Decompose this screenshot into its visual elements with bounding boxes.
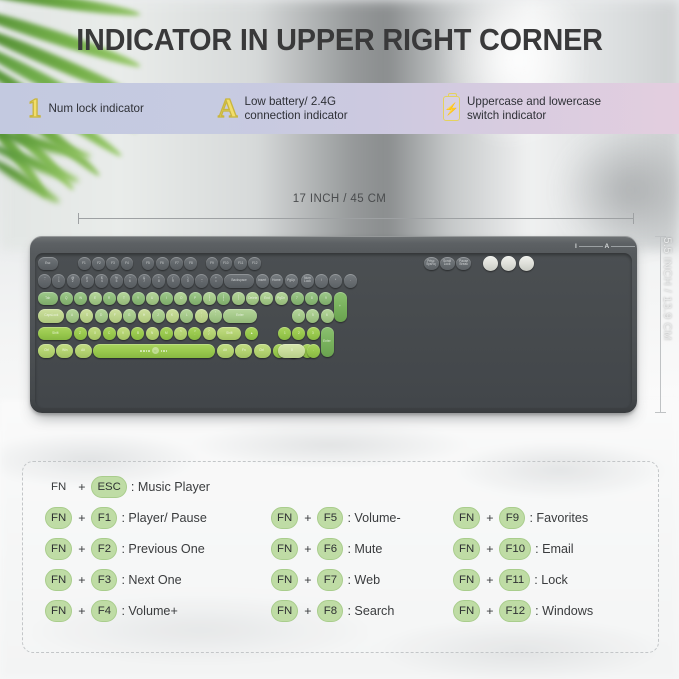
infographic-canvas: INDICATOR IN UPPER RIGHT CORNER 1 Num lo… xyxy=(0,0,679,679)
key-F8: F8 xyxy=(184,257,197,270)
shortcut-row: FN+F2: Previous One xyxy=(45,533,210,564)
key-label: U xyxy=(151,297,153,300)
key-label: S xyxy=(86,314,88,317)
key-label: Tab xyxy=(45,297,50,300)
key-D: D xyxy=(95,309,108,323)
key-J: J xyxy=(152,309,165,323)
key-label: } ] xyxy=(223,295,224,302)
shortcut-function-key: F4 xyxy=(91,600,117,622)
key-pad-9: 9 xyxy=(319,292,332,306)
shortcut-action-label: : Search xyxy=(347,604,394,618)
shortcut-modifier-key: FN xyxy=(453,569,480,591)
key-label: Shift xyxy=(52,332,58,335)
shortcut-legend-panel: FN+ESC: Music PlayerFN+F1: Player/ Pause… xyxy=(22,461,659,653)
width-dimension-line xyxy=(78,218,634,219)
key-label: F6 xyxy=(160,262,164,265)
key-label: ? / xyxy=(208,330,210,337)
shortcut-row: FN+F4: Volume+ xyxy=(45,595,210,626)
key-label: / xyxy=(321,279,322,282)
key-U: U xyxy=(146,292,159,306)
shortcut-function-key: F11 xyxy=(499,569,530,591)
key-label: + = xyxy=(215,277,217,284)
shortcut-function-key: F12 xyxy=(499,600,531,622)
shortcut-row: FN+F9: Favorites xyxy=(453,502,593,533)
shortcut-row: FN+F1: Player/ Pause xyxy=(45,502,210,533)
shortcut-modifier-key: FN xyxy=(271,507,298,529)
key-Q: Q xyxy=(60,292,73,306)
shortcut-modifier-key: FN xyxy=(45,507,72,529)
key-F1: F1 xyxy=(78,257,91,270)
key-pad-20: - xyxy=(344,274,357,288)
key-G: G xyxy=(123,309,136,323)
key-label: | \ xyxy=(238,295,239,302)
shortcut-plus-symbol: + xyxy=(78,480,85,494)
key-F12: F12 xyxy=(248,257,261,270)
key-label: ^ 6 xyxy=(129,277,131,284)
key-label: 0 xyxy=(291,349,293,352)
shortcut-plus-symbol: + xyxy=(486,604,493,618)
key-label: * xyxy=(335,279,336,282)
key-space: ○ xyxy=(93,344,215,358)
shortcut-modifier-key: FN xyxy=(45,569,72,591)
indicator-divider xyxy=(579,246,603,247)
page-title: INDICATOR IN UPPER RIGHT CORNER xyxy=(24,22,655,58)
key-< ,: < , xyxy=(174,327,187,341)
key-| \: | \ xyxy=(232,292,245,306)
shortcut-modifier-key: FN xyxy=(271,569,298,591)
key-label: Ctrl xyxy=(44,349,49,352)
key-enter: Enter xyxy=(223,309,257,323)
shortcut-plus-symbol: + xyxy=(78,573,85,587)
key-label: Prtsc SysRq xyxy=(427,260,436,267)
key-label: " ' xyxy=(215,312,216,319)
key-label: Esc xyxy=(45,262,50,265)
shortcut-modifier-key: FN xyxy=(271,600,298,622)
shortcut-row: FN+ESC: Music Player xyxy=(45,471,210,502)
key-label: + xyxy=(339,305,341,308)
letter-a-icon: A xyxy=(218,95,238,122)
key-pad-1: 1 xyxy=(278,327,291,341)
shortcut-column-1: FN+ESC: Music PlayerFN+F1: Player/ Pause… xyxy=(45,471,210,626)
key-label: ~ ` xyxy=(44,277,46,284)
key-pad-dot: . xyxy=(307,344,320,358)
key-F7: F7 xyxy=(170,257,183,270)
key-num-4: $ 4 xyxy=(95,274,108,288)
shortcut-modifier-key: FN xyxy=(271,538,298,560)
key-P: P xyxy=(189,292,202,306)
key-label: F xyxy=(114,314,116,317)
key-label: V xyxy=(122,332,124,335)
shortcut-plus-symbol: + xyxy=(304,511,311,525)
key-R: R xyxy=(103,292,116,306)
key-F11: F11 xyxy=(234,257,247,270)
key-label: F8 xyxy=(189,262,193,265)
key-label: A xyxy=(71,314,73,317)
key-label: D xyxy=(100,314,102,317)
key-label: ▲ xyxy=(250,332,253,335)
key-nav-14: Insert xyxy=(256,274,269,288)
key-label: * 8 xyxy=(158,277,160,284)
key-nav-16: PgUp xyxy=(285,274,298,288)
key-label: ! 1 xyxy=(58,277,60,284)
key-label: L xyxy=(186,314,188,317)
key-Fn: Fn xyxy=(235,344,252,358)
shortcut-action-label: : Lock xyxy=(534,573,568,587)
shortcut-plus-symbol: + xyxy=(78,511,85,525)
shortcut-plus-symbol: + xyxy=(78,604,85,618)
shortcut-modifier-key: FN xyxy=(45,538,72,560)
key-F9: F9 xyxy=(206,257,219,270)
key-label: F5 xyxy=(146,262,150,265)
key-F5: F5 xyxy=(142,257,155,270)
digit-one-icon: 1 xyxy=(28,95,42,122)
key-label: 9 xyxy=(325,297,327,300)
key-label: Shift xyxy=(226,332,232,335)
key-label: # 3 xyxy=(87,277,89,284)
key-label: % 5 xyxy=(115,277,118,284)
key-nav2-16: PgDn xyxy=(275,292,288,306)
key-label: Delete xyxy=(248,297,257,300)
shortcut-row: FN+F7: Web xyxy=(271,564,401,595)
key-Z: Z xyxy=(74,327,87,341)
key-pad-7: 7 xyxy=(291,292,304,306)
key-H: H xyxy=(138,309,151,323)
key-I: I xyxy=(160,292,173,306)
shortcut-modifier-key: FN xyxy=(45,600,72,622)
key-pad-4: 4 xyxy=(292,309,305,323)
shortcut-row: FN+F10: Email xyxy=(453,533,593,564)
key-label: & 7 xyxy=(144,277,146,284)
key-label: X xyxy=(94,332,96,335)
shortcut-function-key: ESC xyxy=(91,476,126,498)
key-F2: F2 xyxy=(92,257,105,270)
shortcut-action-label: : Previous One xyxy=(121,542,204,556)
shortcut-modifier-key: FN xyxy=(45,476,72,498)
key-Alt: Alt xyxy=(75,344,92,358)
key-label: K xyxy=(172,314,174,317)
key-label: Fn xyxy=(242,349,246,352)
shortcut-row: FN+F5: Volume- xyxy=(271,502,401,533)
key-K: K xyxy=(166,309,179,323)
key-label: M xyxy=(165,332,168,335)
key-X: X xyxy=(88,327,101,341)
shortcut-function-key: F10 xyxy=(499,538,531,560)
key-num-3: # 3 xyxy=(81,274,94,288)
key-label: J xyxy=(158,314,160,317)
shortcut-row: FN+F12: Windows xyxy=(453,595,593,626)
background-shadow-blob xyxy=(560,130,679,250)
key-pad-enter: Enter xyxy=(321,327,334,357)
key-label: Enter xyxy=(324,340,332,343)
key-label: Alt xyxy=(81,349,85,352)
key-pad-18: / xyxy=(315,274,328,288)
shortcut-row: FN+F3: Next One xyxy=(45,564,210,595)
key-{ [: { [ xyxy=(203,292,216,306)
legend-label-caselock: Uppercase and lowercase switch indicator xyxy=(467,95,601,122)
key-Ctrl: Ctrl xyxy=(254,344,271,358)
key-label: 2 xyxy=(298,332,300,335)
shortcut-column-3: FN+F9: FavoritesFN+F10: EmailFN+F11: Loc… xyxy=(453,502,593,626)
key-label: : ; xyxy=(201,312,202,319)
key-label: - xyxy=(350,279,351,282)
shortcut-function-key: F6 xyxy=(317,538,343,560)
key-label: _ - xyxy=(201,277,203,284)
key-label: ) 0 xyxy=(187,277,189,284)
key-label: 3 xyxy=(312,332,314,335)
key-num-5: % 5 xyxy=(110,274,123,288)
key-pad-17: Num Lock xyxy=(301,274,314,288)
key-pad-6: 6 xyxy=(321,309,334,323)
key-F6: F6 xyxy=(156,257,169,270)
key-label: Num Lock xyxy=(304,277,311,284)
key-label: 1 xyxy=(284,332,286,335)
key-num-0: ~ ` xyxy=(38,274,51,288)
shortcut-modifier-key: FN xyxy=(453,538,480,560)
key-Ctrl: Ctrl xyxy=(38,344,55,358)
key-label: F10 xyxy=(223,262,228,265)
shortcut-modifier-key: FN xyxy=(453,600,480,622)
key-Y: Y xyxy=(132,292,145,306)
key-arrow-up: ▲ xyxy=(245,327,258,341)
key-shift-left: Shift xyxy=(38,327,72,341)
key-label: F4 xyxy=(125,262,129,265)
shortcut-action-label: : Player/ Pause xyxy=(121,511,206,525)
key-label: 8 xyxy=(311,297,313,300)
key-label: I xyxy=(166,297,167,300)
shortcut-action-label: : Volume+ xyxy=(121,604,177,618)
shortcut-action-label: : Mute xyxy=(347,542,382,556)
key-num-2: @ 2 xyxy=(67,274,80,288)
key-label: Pause Break xyxy=(459,260,468,267)
key-label: G xyxy=(128,314,130,317)
indicator-button-1 xyxy=(483,256,498,271)
shortcut-action-label: : Web xyxy=(347,573,380,587)
shortcut-action-label: : Email xyxy=(535,542,574,556)
legend-item-numlock: 1 Num lock indicator xyxy=(28,83,144,134)
key-F3: F3 xyxy=(106,257,119,270)
key-label: Scroll Lock xyxy=(443,260,451,267)
key-pad-19: * xyxy=(329,274,342,288)
key-label: 7 xyxy=(296,297,298,300)
legend-label-lowbattery: Low battery/ 2.4G connection indicator xyxy=(245,95,348,122)
shortcut-plus-symbol: + xyxy=(78,542,85,556)
key-label: < , xyxy=(180,330,182,337)
key-O: O xyxy=(174,292,187,306)
shortcut-action-label: : Favorites xyxy=(529,511,588,525)
key-label: P xyxy=(194,297,196,300)
key-capslock: CapsLock xyxy=(38,309,64,323)
key-label: Backspace xyxy=(231,279,246,282)
key-V: V xyxy=(117,327,130,341)
key-label: F3 xyxy=(111,262,115,265)
key-num-11: _ - xyxy=(195,274,208,288)
key-label: O xyxy=(180,297,182,300)
shortcut-action-label: : Volume- xyxy=(347,511,400,525)
key-Win: Win xyxy=(56,344,73,358)
shortcut-function-key: F7 xyxy=(317,569,343,591)
height-dimension-label: 5.5 INCH / 13.9 CM xyxy=(661,234,673,344)
key-label: F2 xyxy=(97,262,101,265)
key-label: C xyxy=(108,332,110,335)
key-label: End xyxy=(264,297,270,300)
key-num-9: ( 9 xyxy=(167,274,180,288)
key-? /: ? / xyxy=(203,327,216,341)
key-label: F7 xyxy=(175,262,179,265)
key-pad-0: 0 xyxy=(278,344,305,358)
indicator-button-2 xyxy=(501,256,516,271)
shortcut-plus-symbol: + xyxy=(304,542,311,556)
key-label: F1 xyxy=(82,262,86,265)
shortcut-plus-symbol: + xyxy=(304,573,311,587)
key-esc: Esc xyxy=(38,257,58,270)
key-label: H xyxy=(143,314,145,317)
key-W: W xyxy=(74,292,87,306)
shortcut-plus-symbol: + xyxy=(304,604,311,618)
shortcut-function-key: F9 xyxy=(499,507,525,529)
key-label: Insert xyxy=(258,279,266,282)
legend-label-numlock: Num lock indicator xyxy=(49,102,144,116)
key-label: Win xyxy=(62,349,67,352)
shortcut-function-key: F1 xyxy=(91,507,117,529)
keyboard-indicator-strip: I A 🔒 xyxy=(575,241,637,251)
key-nav-15: Home xyxy=(270,274,283,288)
key-L: L xyxy=(180,309,193,323)
key-A: A xyxy=(66,309,79,323)
shortcut-function-key: F5 xyxy=(317,507,343,529)
key-label: Home xyxy=(272,279,280,282)
key-label: PgDn xyxy=(277,297,285,300)
shortcut-function-key: F8 xyxy=(317,600,343,622)
shortcut-plus-symbol: + xyxy=(486,573,493,587)
key-num-8: * 8 xyxy=(152,274,165,288)
shortcut-action-label: : Music Player xyxy=(131,480,210,494)
key-C: C xyxy=(103,327,116,341)
key-num-6: ^ 6 xyxy=(124,274,137,288)
key-pad-5: 5 xyxy=(306,309,319,323)
legend-item-caselock: ⚡ Uppercase and lowercase switch indicat… xyxy=(443,83,601,134)
key-T: T xyxy=(117,292,130,306)
key-num-1: ! 1 xyxy=(52,274,65,288)
key-backspace: Backspace xyxy=(224,274,254,288)
shortcut-action-label: : Next One xyxy=(121,573,181,587)
key-label: Y xyxy=(137,297,139,300)
key-sys-15: Pause Break xyxy=(456,257,471,270)
key-label: Alt xyxy=(224,349,228,352)
key-label: F11 xyxy=(238,262,243,265)
key-F4: F4 xyxy=(121,257,134,270)
shortcut-column-2: FN+F5: Volume-FN+F6: MuteFN+F7: WebFN+F8… xyxy=(271,502,401,626)
indicator-caps-icon: A xyxy=(605,243,610,250)
key-label: ( 9 xyxy=(172,277,174,284)
keyboard-deck: EscF1F2F3F4F5F6F7F8F9F10F11F12Prtsc SysR… xyxy=(35,253,632,408)
width-dimension-label: 17 INCH / 45 CM xyxy=(0,193,679,205)
key-F: F xyxy=(109,309,122,323)
key-label: B xyxy=(137,332,139,335)
shortcut-function-key: F3 xyxy=(91,569,117,591)
key-label: N xyxy=(151,332,153,335)
key-label: 4 xyxy=(298,314,300,317)
key-M: M xyxy=(160,327,173,341)
indicator-numlock-icon: I xyxy=(575,243,577,250)
spacebar-brand-logo: ○ xyxy=(140,347,167,354)
key-: ;: : ; xyxy=(195,309,208,323)
key-label: 5 xyxy=(312,314,314,317)
key-label: T xyxy=(123,297,125,300)
key-label: { [ xyxy=(209,295,210,302)
key-label: 6 xyxy=(326,314,328,317)
indicator-button-3 xyxy=(519,256,534,271)
key-label: > . xyxy=(194,330,196,337)
key-label: $ 4 xyxy=(101,277,103,284)
key-label: F12 xyxy=(252,262,257,265)
key-S: S xyxy=(80,309,93,323)
key-> .: > . xyxy=(188,327,201,341)
indicator-divider xyxy=(611,246,635,247)
key-label: Q xyxy=(65,297,67,300)
key-label: Enter xyxy=(237,314,245,317)
shortcut-plus-symbol: + xyxy=(486,511,493,525)
shortcut-modifier-key: FN xyxy=(453,507,480,529)
key-sys-14: Scroll Lock xyxy=(440,257,455,270)
key-label: W xyxy=(79,297,82,300)
indicator-legend-band: 1 Num lock indicator A Low battery/ 2.4G… xyxy=(0,83,679,134)
key-sys-13: Prtsc SysRq xyxy=(424,257,439,270)
key-tab: Tab xyxy=(38,292,58,306)
key-N: N xyxy=(146,327,159,341)
key-num-12: + = xyxy=(210,274,223,288)
keyboard-product-image: I A 🔒 EscF1F2F3F4F5F6F7F8F9F10F11F12Prts… xyxy=(30,236,637,413)
shortcut-action-label: : Windows xyxy=(535,604,593,618)
key-B: B xyxy=(131,327,144,341)
key-label: PgUp xyxy=(287,279,295,282)
key-E: E xyxy=(89,292,102,306)
key-label: Ctrl xyxy=(260,349,265,352)
key-nav2-15: End xyxy=(260,292,273,306)
key-label: E xyxy=(94,297,96,300)
key-F10: F10 xyxy=(220,257,233,270)
key-pad-2: 2 xyxy=(292,327,305,341)
key-label: CapsLock xyxy=(44,314,58,317)
key-shift-right: Shift xyxy=(217,327,241,341)
key-label: F9 xyxy=(210,262,214,265)
shortcut-row: FN+F11: Lock xyxy=(453,564,593,595)
shortcut-row: FN+F8: Search xyxy=(271,595,401,626)
key-label: . xyxy=(313,349,314,352)
shortcut-function-key: F2 xyxy=(91,538,117,560)
key-Alt: Alt xyxy=(217,344,234,358)
legend-item-lowbattery: A Low battery/ 2.4G connection indicator xyxy=(218,83,348,134)
key-label: @ 2 xyxy=(71,277,74,284)
key-label: Z xyxy=(80,332,82,335)
key-nav2-14: Delete xyxy=(246,292,259,306)
shortcut-plus-symbol: + xyxy=(486,542,493,556)
key-label: R xyxy=(108,297,110,300)
key-pad-8: 8 xyxy=(305,292,318,306)
battery-bolt-icon: ⚡ xyxy=(443,96,460,121)
key-pad-plus: + xyxy=(334,292,347,322)
key-} ]: } ] xyxy=(217,292,230,306)
key-" ': " ' xyxy=(209,309,222,323)
key-num-7: & 7 xyxy=(138,274,151,288)
key-pad-3: 3 xyxy=(307,327,320,341)
key-num-10: ) 0 xyxy=(181,274,194,288)
shortcut-row: FN+F6: Mute xyxy=(271,533,401,564)
